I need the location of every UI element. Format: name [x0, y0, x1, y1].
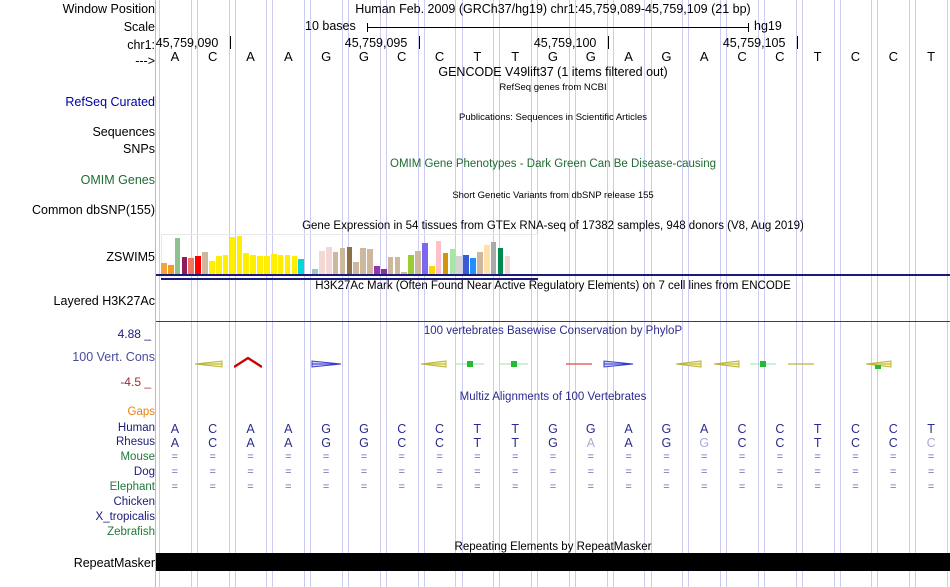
multiz-base: T [496, 437, 534, 450]
multiz-base: C [383, 437, 421, 450]
multiz-gap-mark: = [383, 467, 421, 478]
multiz-base: T [496, 423, 534, 436]
multiz-gap-mark: = [269, 452, 307, 463]
multiz-gap-mark: = [194, 452, 232, 463]
multiz-gap-mark: = [761, 482, 799, 493]
gtex-bar[interactable] [477, 252, 483, 276]
label-elephant[interactable]: Elephant [3, 482, 155, 494]
multiz-base: G [345, 437, 383, 450]
multiz-gap-mark: = [307, 452, 345, 463]
multiz-gap-mark: = [799, 452, 837, 463]
multiz-base: A [156, 437, 194, 450]
gtex-bar[interactable] [436, 241, 442, 276]
multiz-gap-mark: = [610, 452, 648, 463]
multiz-gap-mark: = [269, 467, 307, 478]
conservation-feature[interactable] [193, 356, 223, 372]
multiz-base: C [194, 423, 232, 436]
label-zebrafish[interactable]: Zebrafish [3, 527, 155, 539]
label-gaps[interactable]: Gaps [3, 407, 155, 419]
multiz-gap-mark: = [912, 482, 950, 493]
label-cons-min: -4.5 _ [0, 376, 151, 388]
gtex-bar[interactable] [237, 236, 243, 276]
multiz-base: G [648, 423, 686, 436]
multiz-gap-mark: = [156, 482, 194, 493]
sequence-base: A [232, 50, 270, 63]
multiz-base: T [799, 423, 837, 436]
multiz-gap-mark: = [194, 482, 232, 493]
sequence-base: C [421, 50, 459, 63]
multiz-gap-mark: = [156, 467, 194, 478]
track-data-panel: Human Feb. 2009 (GRCh37/hg19) chr1:45,75… [156, 0, 950, 587]
label-dog[interactable]: Dog [3, 467, 155, 479]
conservation-feature[interactable] [712, 356, 740, 372]
phylop-top-rule [156, 321, 950, 322]
ruler-tick-label: 45,759,105 [723, 37, 786, 50]
gtex-bar[interactable] [243, 253, 249, 276]
multiz-gap-mark: = [421, 467, 459, 478]
sequence-base: T [496, 50, 534, 63]
multiz-gap-mark: = [912, 467, 950, 478]
label-refseq-curated[interactable]: RefSeq Curated [3, 96, 155, 109]
multiz-base: A [610, 423, 648, 436]
sequence-base: T [912, 50, 950, 63]
multiz-base: T [458, 423, 496, 436]
multiz-gap-mark: = [345, 482, 383, 493]
multiz-gap-mark: = [572, 482, 610, 493]
multiz-gap-mark: = [194, 467, 232, 478]
conservation-feature[interactable] [788, 356, 814, 372]
multiz-gap-mark: = [912, 452, 950, 463]
ruler-tick [608, 36, 609, 49]
multiz-base: G [307, 423, 345, 436]
gtex-bar[interactable] [250, 255, 256, 276]
multiz-base: A [232, 423, 270, 436]
h3k27ac-title[interactable]: H3K27Ac Mark (Often Found Near Active Re… [156, 281, 950, 293]
multiz-gap-mark: = [761, 452, 799, 463]
multiz-base: C [837, 423, 875, 436]
gtex-bar[interactable] [498, 248, 504, 276]
multiz-base: G [534, 437, 572, 450]
sequence-base: A [156, 50, 194, 63]
omim-title[interactable]: OMIM Gene Phenotypes - Dark Green Can Be… [156, 159, 950, 171]
sequence-base: G [648, 50, 686, 63]
ruler-tick-label: 45,759,095 [345, 37, 408, 50]
gtex-bar[interactable] [333, 252, 339, 276]
gtex-bar[interactable] [367, 249, 373, 276]
label-strand-arrow: ---> [3, 55, 155, 68]
multiz-gap-mark: = [345, 452, 383, 463]
multiz-gap-mark: = [610, 482, 648, 493]
multiz-gap-mark: = [799, 482, 837, 493]
multiz-gap-mark: = [648, 482, 686, 493]
multiz-gap-mark: = [723, 452, 761, 463]
multiz-gap-mark: = [874, 467, 912, 478]
label-zswim5[interactable]: ZSWIM5 [3, 251, 155, 264]
multiz-base: A [685, 423, 723, 436]
multiz-gap-mark: = [345, 467, 383, 478]
conservation-feature[interactable] [566, 356, 592, 372]
genome-browser: Window Position Scale chr1: ---> RefSeq … [0, 0, 950, 587]
multiz-gap-mark: = [458, 467, 496, 478]
multiz-gap-mark: = [572, 452, 610, 463]
sequence-base: G [345, 50, 383, 63]
label-human[interactable]: Human [3, 423, 155, 435]
repeatmasker-block[interactable] [156, 553, 950, 571]
label-sequences[interactable]: Sequences [3, 126, 155, 139]
ruler-tick [797, 36, 798, 49]
label-layered-h3k27ac[interactable]: Layered H3K27Ac [3, 295, 155, 308]
gtex-bar[interactable] [202, 252, 208, 276]
multiz-gap-mark: = [761, 467, 799, 478]
multiz-base: C [837, 437, 875, 450]
label-chrom[interactable]: chr1: [3, 39, 155, 52]
sequence-base: T [799, 50, 837, 63]
multiz-base: C [421, 423, 459, 436]
multiz-base: C [383, 423, 421, 436]
multiz-base: G [345, 423, 383, 436]
gtex-bar[interactable] [408, 255, 414, 276]
gtex-bar[interactable] [450, 249, 456, 276]
gtex-bar[interactable] [271, 254, 277, 276]
ruler-tick-label: 45,759,090 [156, 37, 219, 50]
conservation-feature[interactable] [234, 356, 262, 372]
gtex-bar-chart[interactable] [161, 236, 532, 278]
multiz-gap-mark: = [685, 482, 723, 493]
multiz-gap-mark: = [307, 467, 345, 478]
label-scale[interactable]: Scale [3, 21, 155, 34]
sequence-base: G [572, 50, 610, 63]
sequence-base: T [458, 50, 496, 63]
multiz-gap-mark: = [496, 467, 534, 478]
phylop-title[interactable]: 100 vertebrates Basewise Conservation by… [156, 326, 950, 338]
multiz-base: A [572, 437, 610, 450]
multiz-base: C [194, 437, 232, 450]
label-snps[interactable]: SNPs [3, 143, 155, 156]
multiz-gap-mark: = [723, 467, 761, 478]
dbsnp-title[interactable]: Short Genetic Variants from dbSNP releas… [156, 191, 950, 201]
ruler-tick [419, 36, 420, 49]
conservation-feature[interactable] [500, 356, 528, 372]
scale-bar-right-cap [748, 23, 749, 32]
conservation-feature[interactable] [750, 356, 776, 372]
multiz-base: A [269, 437, 307, 450]
multiz-base: G [685, 437, 723, 450]
multiz-gap-mark: = [648, 452, 686, 463]
label-x-tropicalis[interactable]: X_tropicalis [3, 512, 155, 524]
ruler-tick-label: 45,759,100 [534, 37, 597, 50]
multiz-gap-mark: = [232, 467, 270, 478]
gtex-title[interactable]: Gene Expression in 54 tissues from GTEx … [156, 221, 950, 233]
multiz-gap-mark: = [383, 482, 421, 493]
multiz-base: C [874, 423, 912, 436]
label-vert-cons[interactable]: 100 Vert. Cons [3, 351, 155, 364]
multiz-gap-mark: = [458, 452, 496, 463]
gtex-bar[interactable] [223, 255, 229, 276]
multiz-base: C [723, 423, 761, 436]
gtex-bar[interactable] [230, 237, 236, 276]
multiz-base: A [269, 423, 307, 436]
multiz-gap-mark: = [534, 467, 572, 478]
multiz-base: A [610, 437, 648, 450]
multiz-base: G [648, 437, 686, 450]
label-window-position[interactable]: Window Position [3, 3, 155, 16]
multiz-base: C [912, 437, 950, 450]
sequence-base: A [610, 50, 648, 63]
assembly-label: hg19 [754, 20, 782, 33]
multiz-base: C [761, 423, 799, 436]
multiz-gap-mark: = [496, 452, 534, 463]
multiz-gap-mark: = [269, 482, 307, 493]
multiz-gap-mark: = [723, 482, 761, 493]
sequence-base: C [837, 50, 875, 63]
multiz-gap-mark: = [534, 482, 572, 493]
gtex-bar[interactable] [422, 243, 428, 276]
multiz-gap-mark: = [837, 482, 875, 493]
sequence-base: C [723, 50, 761, 63]
sequence-base: C [194, 50, 232, 63]
scale-bar-line [367, 27, 748, 28]
multiz-base: C [723, 437, 761, 450]
conservation-feature[interactable] [456, 356, 484, 372]
sequence-base: G [307, 50, 345, 63]
multiz-gap-mark: = [837, 452, 875, 463]
conservation-feature[interactable] [674, 356, 702, 372]
multiz-base: G [572, 423, 610, 436]
multiz-gap-mark: = [232, 452, 270, 463]
multiz-gap-mark: = [156, 452, 194, 463]
multiz-base: A [232, 437, 270, 450]
conservation-feature[interactable] [311, 356, 343, 372]
scale-bases-label: 10 bases [305, 20, 356, 33]
ruler-tick [230, 36, 231, 49]
multiz-gap-mark: = [837, 467, 875, 478]
gencode-title[interactable]: GENCODE V49lift37 (1 items filtered out) [156, 66, 950, 79]
label-repeatmasker[interactable]: RepeatMasker [3, 557, 155, 570]
multiz-gap-mark: = [307, 482, 345, 493]
window-position-title: Human Feb. 2009 (GRCh37/hg19) chr1:45,75… [156, 3, 950, 16]
multiz-gap-mark: = [421, 452, 459, 463]
sequence-base: G [534, 50, 572, 63]
multiz-gap-mark: = [572, 467, 610, 478]
multiz-base: C [874, 437, 912, 450]
refseq-title[interactable]: RefSeq genes from NCBI [156, 83, 950, 93]
multiz-base: T [912, 423, 950, 436]
multiz-gap-mark: = [421, 482, 459, 493]
multiz-gap-mark: = [610, 467, 648, 478]
multiz-base: C [421, 437, 459, 450]
conservation-feature[interactable] [603, 356, 635, 372]
gtex-bar[interactable] [340, 248, 346, 276]
gtex-bar[interactable] [484, 245, 490, 276]
multiz-base: G [307, 437, 345, 450]
multiz-gap-mark: = [874, 482, 912, 493]
h3k27ac-top-rule [156, 274, 950, 276]
multiz-base: T [458, 437, 496, 450]
sequence-base: A [269, 50, 307, 63]
multiz-gap-mark: = [458, 482, 496, 493]
sequence-base: C [383, 50, 421, 63]
multiz-gap-mark: = [496, 482, 534, 493]
gtex-bar[interactable] [443, 253, 449, 276]
label-mouse[interactable]: Mouse [3, 452, 155, 464]
multiz-gap-mark: = [648, 467, 686, 478]
label-cons-max: 4.88 _ [0, 328, 151, 340]
sequence-base: C [761, 50, 799, 63]
conservation-feature[interactable] [419, 356, 447, 372]
multiz-base: T [799, 437, 837, 450]
multiz-gap-mark: = [232, 482, 270, 493]
gtex-bar[interactable] [463, 255, 469, 276]
sequence-base: C [874, 50, 912, 63]
multiz-gap-mark: = [874, 452, 912, 463]
scale-bar-left-cap [367, 23, 368, 32]
multiz-base: C [761, 437, 799, 450]
gtex-bar[interactable] [175, 238, 181, 276]
label-rhesus[interactable]: Rhesus [3, 437, 155, 449]
publications-title[interactable]: Publications: Sequences in Scientific Ar… [156, 113, 950, 123]
gtex-bar[interactable] [491, 242, 497, 276]
multiz-gap-mark: = [685, 452, 723, 463]
gtex-bar[interactable] [415, 251, 421, 276]
multiz-gap-mark: = [383, 452, 421, 463]
label-omim-genes[interactable]: OMIM Genes [3, 174, 155, 187]
multiz-gap-mark: = [799, 467, 837, 478]
multiz-base: A [156, 423, 194, 436]
multiz-base: G [534, 423, 572, 436]
gtex-bar[interactable] [326, 247, 332, 276]
sequence-base: A [685, 50, 723, 63]
label-chicken[interactable]: Chicken [3, 497, 155, 509]
gtex-bar[interactable] [285, 255, 291, 276]
gtex-bar[interactable] [347, 247, 353, 276]
multiz-gap-mark: = [685, 467, 723, 478]
repeatmasker-title[interactable]: Repeating Elements by RepeatMasker [156, 542, 950, 554]
gtex-bar[interactable] [360, 248, 366, 276]
multiz-gap-mark: = [534, 452, 572, 463]
track-label-column: Window Position Scale chr1: ---> RefSeq … [0, 0, 155, 587]
gtex-bar[interactable] [319, 251, 325, 276]
conservation-feature-green-marker[interactable] [864, 356, 892, 372]
gtex-bar[interactable] [278, 255, 284, 276]
multiz-title[interactable]: Multiz Alignments of 100 Vertebrates [156, 392, 950, 404]
label-common-dbsnp[interactable]: Common dbSNP(155) [3, 204, 155, 217]
